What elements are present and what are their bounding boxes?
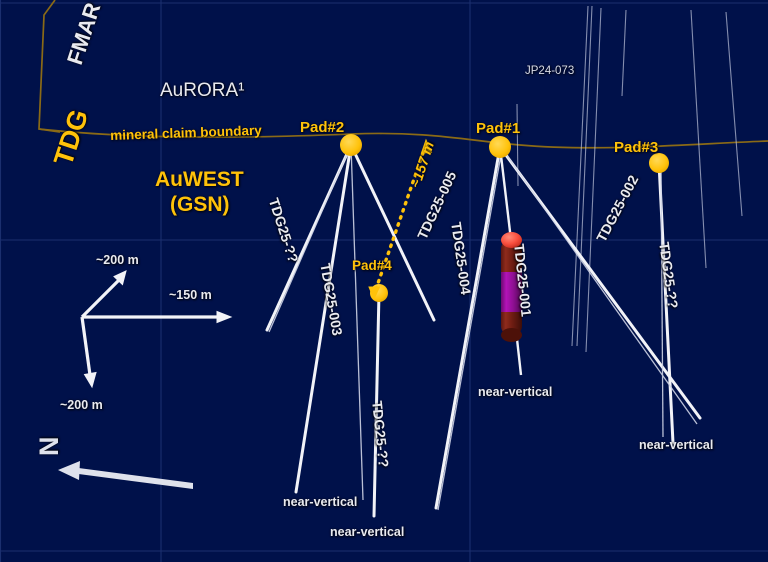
trace-tdg25-005 (351, 145, 434, 320)
pad-marker-pad1 (489, 136, 511, 158)
trace-tdg25-003 (296, 145, 351, 492)
historic-drill-traces (517, 6, 742, 352)
mineral-claim-boundary (39, 0, 768, 148)
trace-tdg25-001 (500, 147, 522, 375)
distance-arrow-157m (369, 140, 432, 299)
trace-pad4-vertical (374, 293, 379, 516)
north-arrow (58, 461, 193, 489)
trace-tdg25-004 (436, 147, 500, 508)
core-cylinder-tdg25-001 (501, 232, 522, 342)
pad-marker-pad3 (649, 153, 669, 173)
scale-bar (82, 271, 231, 387)
pad-marker-pad2 (340, 134, 362, 156)
map-canvas (0, 0, 768, 562)
drill-plan-map: FMAR TDG AuRORA¹ AuWEST (GSN) mineral cl… (0, 0, 768, 562)
drill-hole-traces (267, 145, 700, 516)
